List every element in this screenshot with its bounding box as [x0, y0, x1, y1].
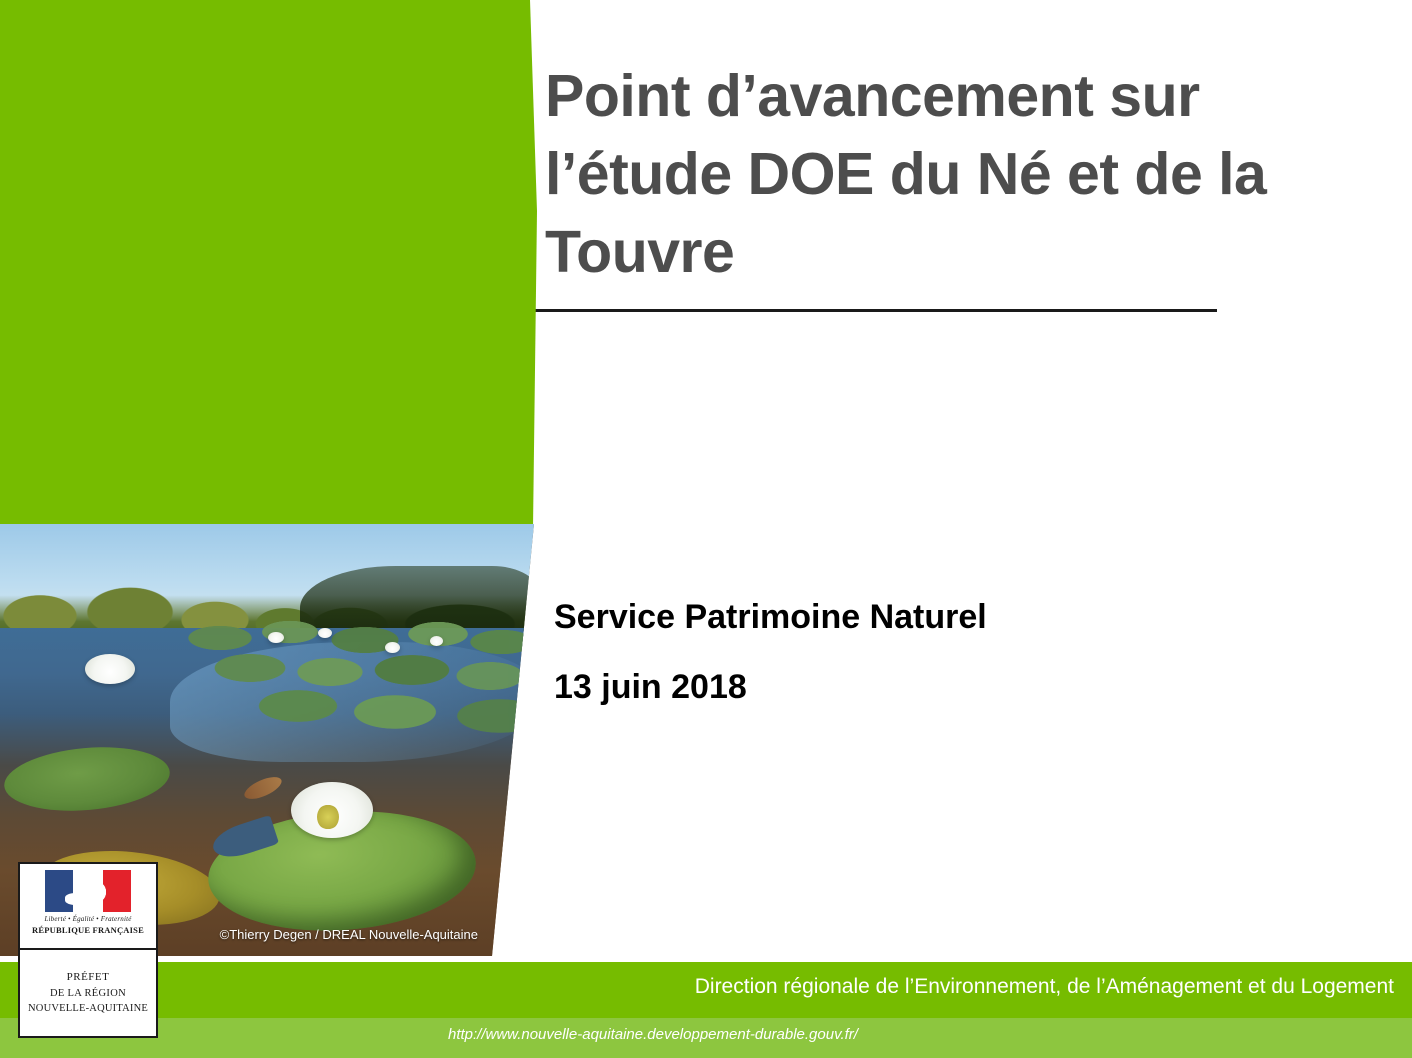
footer-secondary-bar: http://www.nouvelle-aquitaine.developpem… — [0, 1018, 1412, 1058]
footer-organization-name: Direction régionale de l’Environnement, … — [695, 975, 1394, 999]
photo-waterlily-flower-small — [85, 654, 135, 684]
photo-waterlily-flower-distant-3 — [385, 642, 400, 653]
prefect-line-1: PRÉFET — [67, 971, 110, 985]
presentation-slide: ©Thierry Degen / DREAL Nouvelle-Aquitain… — [0, 0, 1412, 1058]
photo-waterlily-flower-distant-2 — [318, 628, 332, 638]
french-flag-marianne-icon — [45, 870, 131, 912]
prefecture-logo: Liberté • Égalité • Fraternité RÉPUBLIQU… — [18, 862, 158, 1038]
title-underline-rule — [533, 309, 1217, 312]
photo-waterlily-flower-distant-4 — [430, 636, 443, 646]
prefect-region-block: PRÉFET DE LA RÉGION NOUVELLE-AQUITAINE — [20, 950, 156, 1036]
republic-name: RÉPUBLIQUE FRANÇAISE — [32, 925, 144, 935]
slide-subtitle: Service Patrimoine Naturel 13 juin 2018 — [554, 600, 1314, 704]
subtitle-service: Service Patrimoine Naturel — [554, 600, 1314, 634]
republique-francaise-block: Liberté • Égalité • Fraternité RÉPUBLIQU… — [20, 864, 156, 950]
photo-lilypad-field — [180, 620, 540, 750]
republic-motto: Liberté • Égalité • Fraternité — [44, 915, 131, 923]
green-accent-panel — [0, 0, 540, 528]
prefect-line-3: NOUVELLE-AQUITAINE — [28, 1002, 148, 1015]
footer-website-url: http://www.nouvelle-aquitaine.developpem… — [0, 1026, 1412, 1043]
subtitle-date: 13 juin 2018 — [554, 670, 1314, 704]
photo-waterlily-flower-distant-1 — [268, 632, 284, 643]
photo-credit: ©Thierry Degen / DREAL Nouvelle-Aquitain… — [220, 927, 478, 942]
footer-primary-bar: Direction régionale de l’Environnement, … — [0, 962, 1412, 1018]
prefect-line-2: DE LA RÉGION — [50, 987, 126, 1000]
slide-title: Point d’avancement sur l’étude DOE du Né… — [545, 58, 1375, 292]
marianne-profile-icon — [63, 875, 113, 909]
photo-waterlily-flower-large — [291, 782, 373, 838]
